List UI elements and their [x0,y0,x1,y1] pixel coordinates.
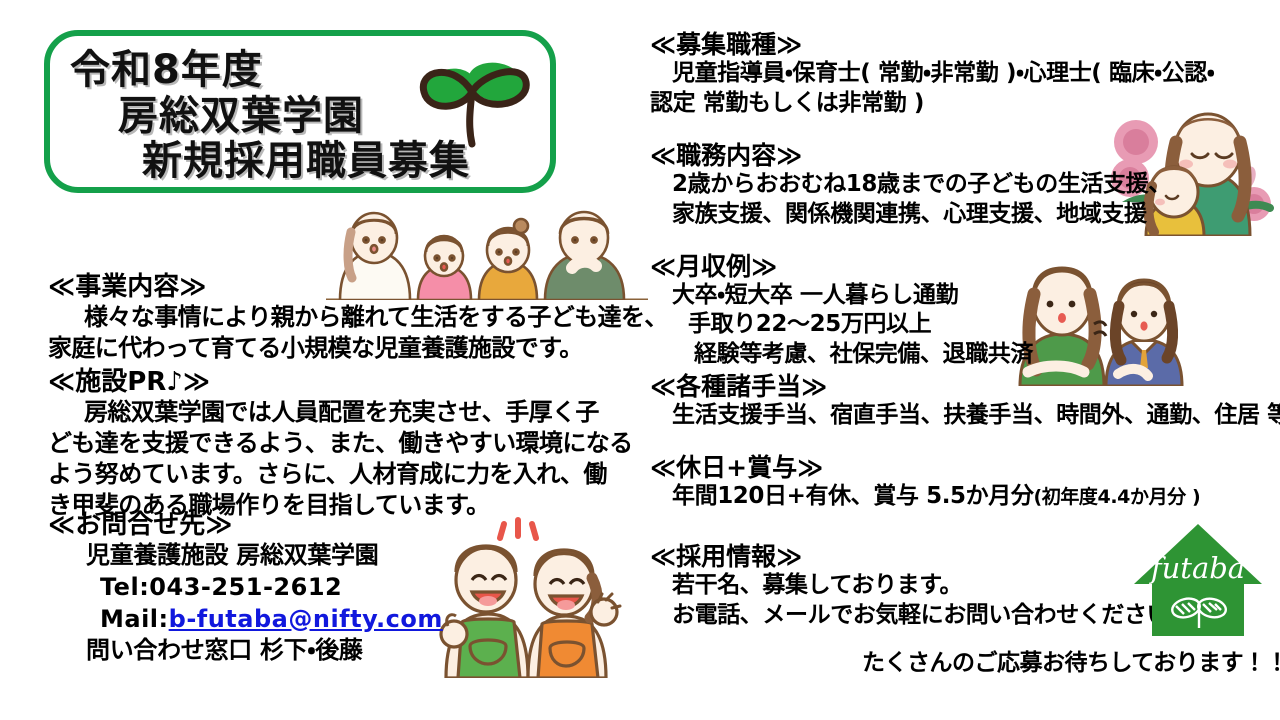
section-facility-pr: ≪施設PR♪≫ 房総双葉学園では人員配置を充実させ、手厚く子 ども達を支援できる… [48,367,648,522]
allowances-line-1: 生活支援手当、宿直手当、扶養手当、時間外、通勤、住居 等 [650,401,1270,431]
salary-heading: ≪月収例≫ [650,252,1270,281]
salary-line-3: 経験等考慮、社保完備、退職共済 [650,340,1270,370]
pr-line-1: 房総双葉学園では人員配置を充実させ、手厚く子 [48,397,648,428]
poster-root: 令和8年度 房総双葉学園 新規採用職員募集 [0,0,1280,720]
contact-window-person: 問い合わせ窓口 杉下・後藤 [48,635,518,667]
email-link[interactable]: b-futaba@nifty.com [169,605,443,633]
tel-number: 043-251-2612 [149,573,342,601]
futaba-house-logo: futaba [1132,522,1264,638]
contact-mail-row: Mail:b-futaba@nifty.com [48,604,518,636]
section-job-types: ≪募集職種≫ 児童指導員・保育士( 常勤・非常勤 )・心理士( 臨床・公認・ 認… [650,30,1270,119]
contact-facility-name: 児童養護施設 房総双葉学園 [48,540,518,572]
title-box: 令和8年度 房総双葉学園 新規採用職員募集 [44,30,556,193]
holidays-line: 年間120日+有休、賞与 5.5か月分(初年度4.4か月分 ) [650,482,1270,512]
duties-line-2: 家族支援、関係機関連携、心理支援、地域支援 [650,200,1270,230]
section-contact: ≪お問合せ先≫ 児童養護施設 房総双葉学園 Tel:043-251-2612 M… [48,510,518,667]
spacer-1 [650,119,1270,141]
business-heading: ≪事業内容≫ [48,272,648,302]
mail-label: Mail: [100,605,169,633]
pr-line-2: ども達を支援できるよう、また、働きやすい環境になる [48,428,648,459]
pr-line-3: よう努めています。さらに、人材育成に力を入れ、働 [48,459,648,490]
section-salary: ≪月収例≫ 大卒・短大卒 一人暮らし通勤 手取り22〜25万円以上 経験等考慮、… [650,252,1270,371]
left-column: ≪事業内容≫ 様々な事情により親から離れて生活をする子ども達を、 家庭に代わって… [48,272,648,523]
contact-tel-row: Tel:043-251-2612 [48,572,518,604]
holidays-main: 年間120日+有休、賞与 5.5か月分 [672,483,1033,509]
spacer-3 [650,431,1270,453]
tel-label: Tel: [100,573,149,601]
pr-heading: ≪施設PR♪≫ [48,367,648,397]
footer-message: たくさんのご応募お待ちしております！！ [862,643,1280,677]
section-duties: ≪職務内容≫ 2歳からおおむね18歳までの子どもの生活支援、 家族支援、関係機関… [650,141,1270,230]
salary-line-1: 大卒・短大卒 一人暮らし通勤 [650,281,1270,311]
duties-heading: ≪職務内容≫ [650,141,1270,170]
section-allowances: ≪各種諸手当≫ 生活支援手当、宿直手当、扶養手当、時間外、通勤、住居 等 [650,372,1270,431]
sprout-icon [410,48,532,160]
holidays-note: (初年度4.4か月分 ) [1033,486,1200,508]
allowances-heading: ≪各種諸手当≫ [650,372,1270,401]
holidays-heading: ≪休日+賞与≫ [650,453,1270,482]
job-types-line-2: 認定 常勤もしくは非常勤 ) [650,89,1270,119]
business-line-2: 家庭に代わって育てる小規模な児童養護施設です。 [48,333,648,364]
business-line-1: 様々な事情により親から離れて生活をする子ども達を、 [48,302,648,333]
salary-line-2: 手取り22〜25万円以上 [650,310,1270,340]
contact-heading: ≪お問合せ先≫ [48,510,518,540]
spacer-2 [650,230,1270,252]
section-business: ≪事業内容≫ 様々な事情により親から離れて生活をする子ども達を、 家庭に代わって… [48,272,648,365]
house-logo-text: futaba [1149,551,1245,585]
duties-line-1: 2歳からおおむね18歳までの子どもの生活支援、 [650,170,1270,200]
job-types-line-1: 児童指導員・保育士( 常勤・非常勤 )・心理士( 臨床・公認・ [650,59,1270,89]
job-types-heading: ≪募集職種≫ [650,30,1270,59]
section-holidays-bonus: ≪休日+賞与≫ 年間120日+有休、賞与 5.5か月分(初年度4.4か月分 ) [650,453,1270,512]
